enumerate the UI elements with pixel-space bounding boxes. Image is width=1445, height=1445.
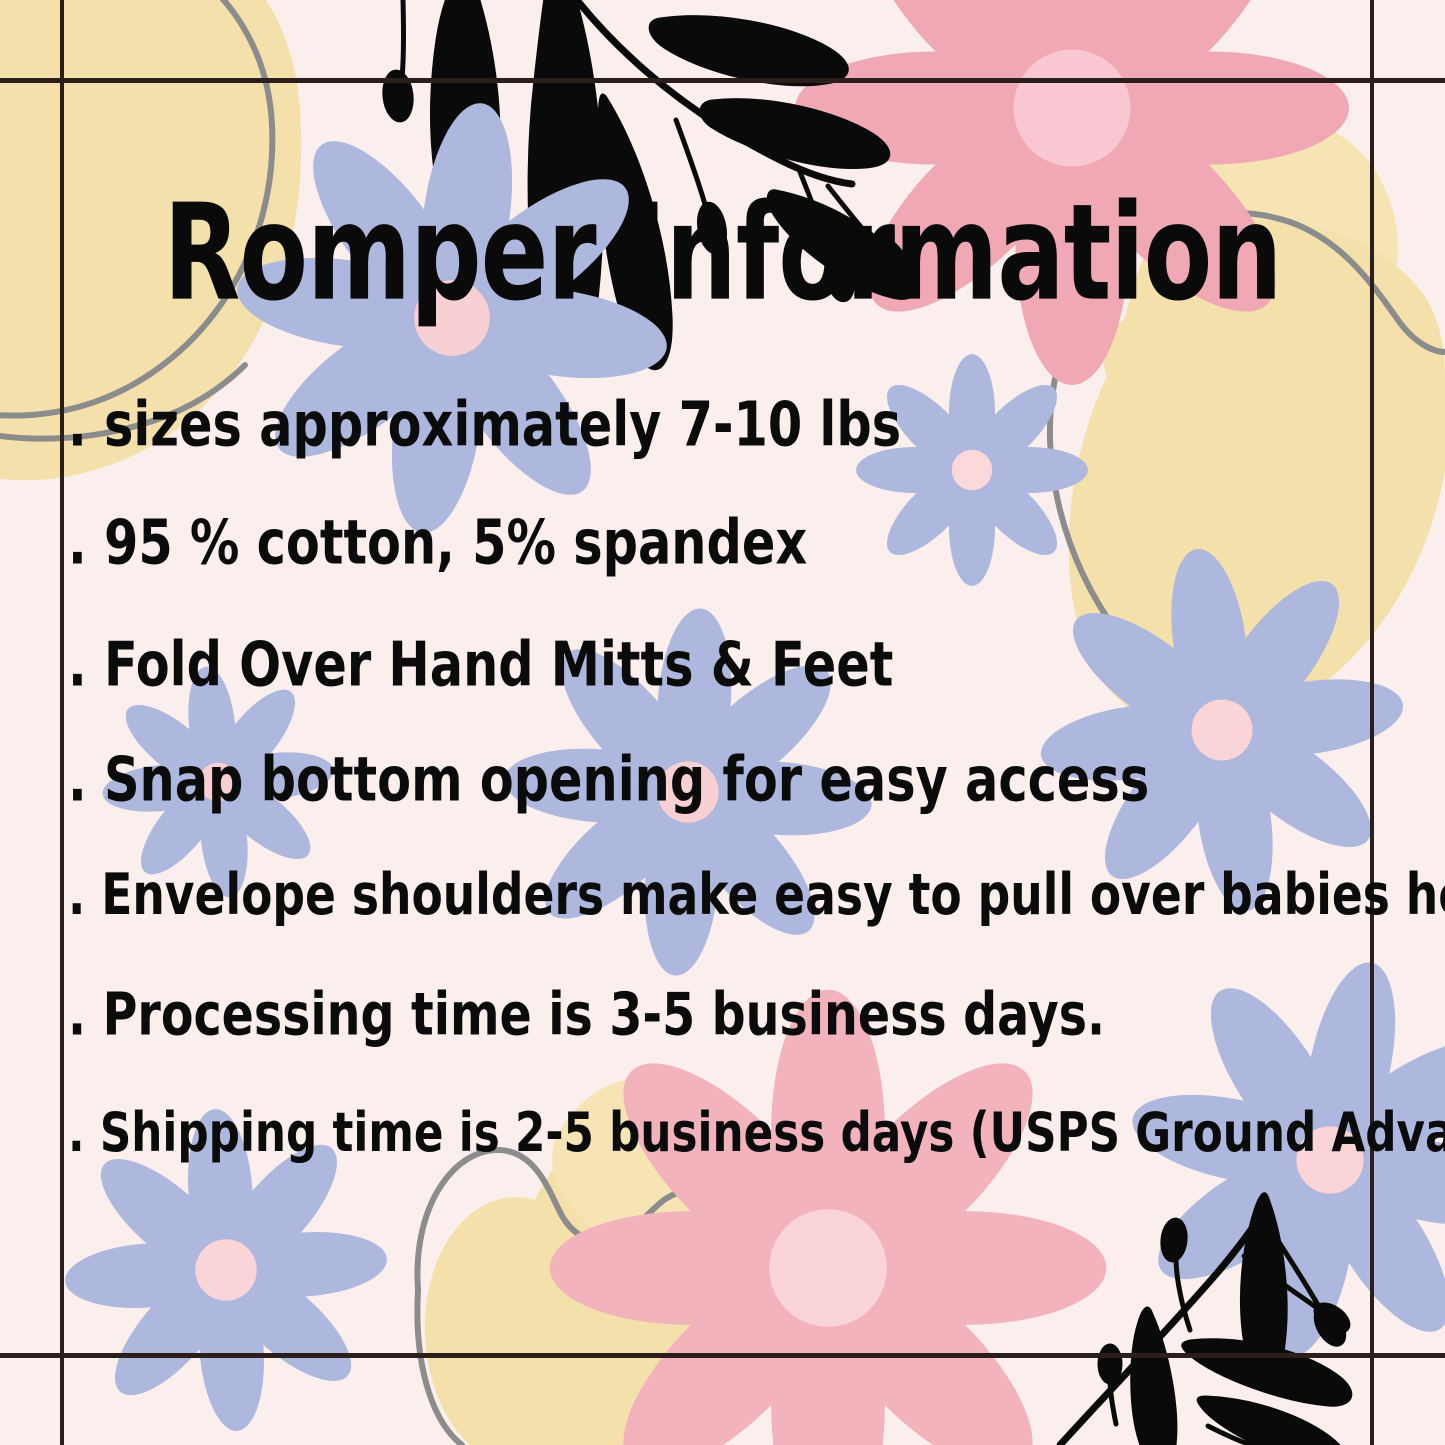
list-item: . 95 % cotton, 5% spandex — [68, 513, 807, 574]
poster-canvas: Romper Information . sizes approximately… — [0, 0, 1445, 1445]
list-item: . Envelope shoulders make easy to pull o… — [68, 867, 1445, 924]
list-item: . sizes approximately 7-10 lbs — [68, 395, 901, 456]
list-item: . Processing time is 3-5 business days. — [68, 985, 1105, 1044]
page-title: Romper Information — [29, 186, 1416, 319]
list-item: . Snap bottom opening for easy access — [68, 750, 1149, 811]
poster-content: Romper Information . sizes approximately… — [0, 0, 1445, 1445]
list-item: . Shipping time is 2-5 business days (US… — [68, 1105, 1445, 1159]
list-item: . Fold Over Hand Mitts & Feet — [68, 635, 893, 696]
